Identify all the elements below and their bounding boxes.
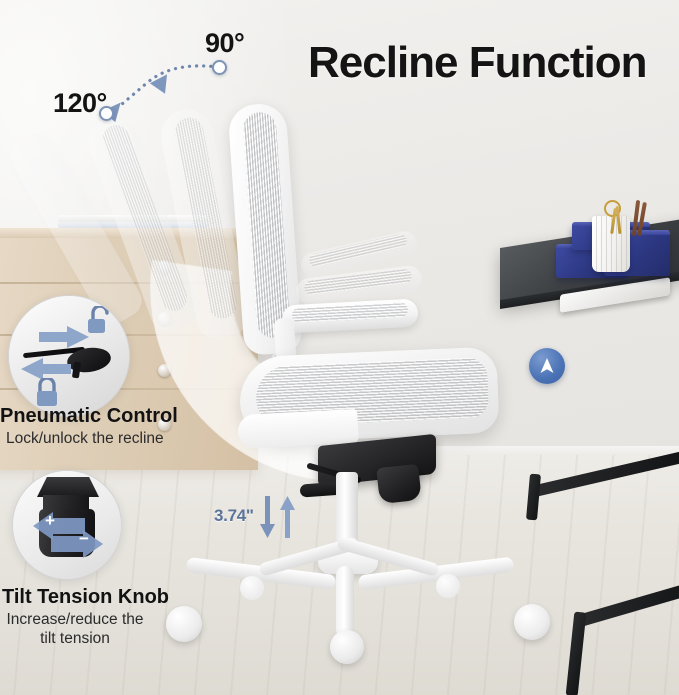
- arrow-right-icon: [39, 324, 91, 350]
- arrow-decrease-icon: [51, 529, 105, 559]
- tilt-tension-knob-callout: + −: [12, 470, 122, 580]
- tilt-tension-knob-subtitle-line1: Increase/reduce the: [0, 611, 150, 629]
- caster-wheel: [514, 604, 550, 640]
- caster-wheel: [166, 606, 202, 642]
- pneumatic-control-subtitle: Lock/unlock the recline: [6, 430, 166, 448]
- height-adjust-label: 3.74": [214, 506, 254, 526]
- navigation-badge[interactable]: [529, 348, 565, 384]
- arrow-down-icon: [260, 496, 275, 538]
- angle-dot-120: [99, 106, 114, 121]
- angle-label-90: 90°: [205, 28, 244, 59]
- minus-label: −: [79, 529, 89, 549]
- caster-wheel: [240, 576, 264, 600]
- plus-label: +: [45, 511, 55, 531]
- base-arm: [336, 566, 354, 638]
- navigation-arrow-icon: [537, 356, 557, 376]
- page-title: Recline Function: [308, 38, 646, 88]
- tilt-tension-knob-subtitle-line2: tilt tension: [0, 630, 150, 648]
- unlock-icon: [87, 306, 113, 336]
- caster-wheel: [330, 630, 364, 664]
- height-adjust-arrows: [256, 496, 300, 540]
- pneumatic-control-title: Pneumatic Control: [0, 405, 178, 428]
- pneumatic-control-callout: [8, 295, 130, 417]
- arrow-up-icon: [280, 496, 295, 538]
- tilt-tension-knob-title: Tilt Tension Knob: [2, 586, 169, 609]
- caster-wheel: [436, 574, 460, 598]
- infographic-stage: Recline Function 90° 120°: [0, 0, 679, 695]
- lock-icon: [35, 378, 61, 408]
- knob-icon: [37, 477, 99, 497]
- angle-dot-90: [212, 60, 227, 75]
- tilt-tension-knob-on-chair[interactable]: [376, 464, 422, 504]
